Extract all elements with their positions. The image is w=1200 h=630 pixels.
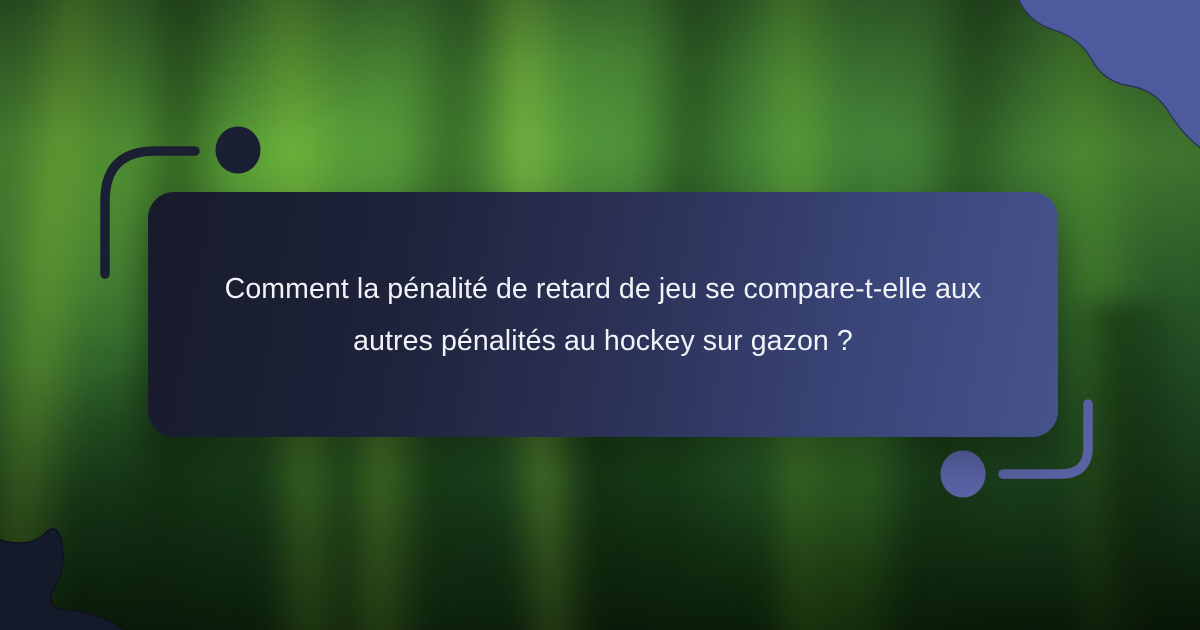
organic-blob-icon: [0, 412, 256, 630]
dot-icon: [941, 451, 986, 498]
social-card-canvas: Comment la pénalité de retard de jeu se …: [0, 0, 1200, 630]
bottom-left-blob: [0, 412, 256, 630]
top-right-blob: [980, 0, 1200, 154]
question-text: Comment la pénalité de retard de jeu se …: [223, 263, 983, 367]
question-card: Comment la pénalité de retard de jeu se …: [148, 192, 1058, 437]
dot-icon: [216, 127, 261, 174]
organic-blob-icon: [980, 0, 1200, 154]
